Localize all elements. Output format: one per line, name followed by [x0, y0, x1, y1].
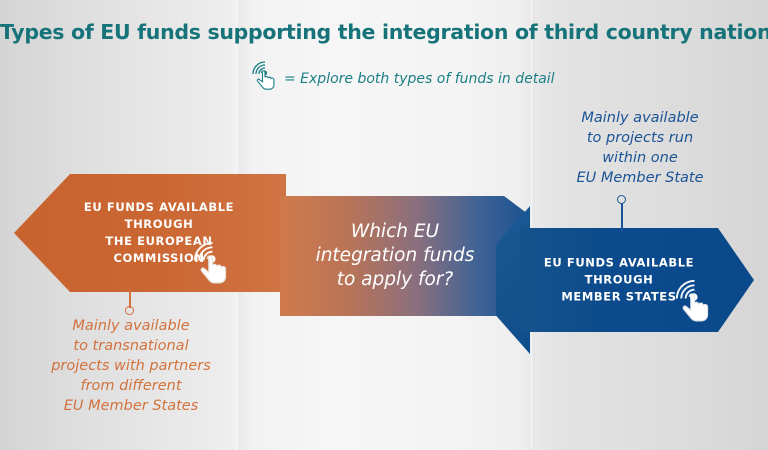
flow-band-right[interactable]: EU FUNDS AVAILABLETHROUGHMEMBER STATES	[520, 228, 754, 332]
callout-left: Mainly availableto transnationalprojects…	[22, 316, 240, 416]
callout-connector-left-dot	[125, 306, 134, 315]
flow-band-left-label: EU FUNDS AVAILABLETHROUGHTHE EUROPEANCOM…	[14, 199, 286, 267]
flow-band-right-label: EU FUNDS AVAILABLETHROUGHMEMBER STATES	[520, 255, 754, 306]
tap-hand-icon[interactable]	[190, 237, 232, 292]
flow-band-left[interactable]: EU FUNDS AVAILABLETHROUGHTHE EUROPEANCOM…	[14, 174, 286, 292]
callout-right: Mainly availableto projects runwithin on…	[540, 108, 740, 188]
tap-hand-icon[interactable]	[672, 275, 714, 330]
legend-label: = Explore both types of funds in detail	[284, 69, 555, 86]
callout-connector-right-dot	[617, 195, 626, 204]
callout-connector-right	[621, 203, 623, 231]
infographic-canvas: Types of EU funds supporting the integra…	[0, 0, 768, 450]
tap-hand-icon	[250, 58, 278, 97]
legend: = Explore both types of funds in detail	[250, 58, 555, 97]
flow-band-center-label: Which EUintegration fundsto apply for?	[280, 220, 510, 292]
page-title: Types of EU funds supporting the integra…	[0, 20, 768, 44]
flow-band-center: Which EUintegration fundsto apply for?	[280, 196, 528, 316]
